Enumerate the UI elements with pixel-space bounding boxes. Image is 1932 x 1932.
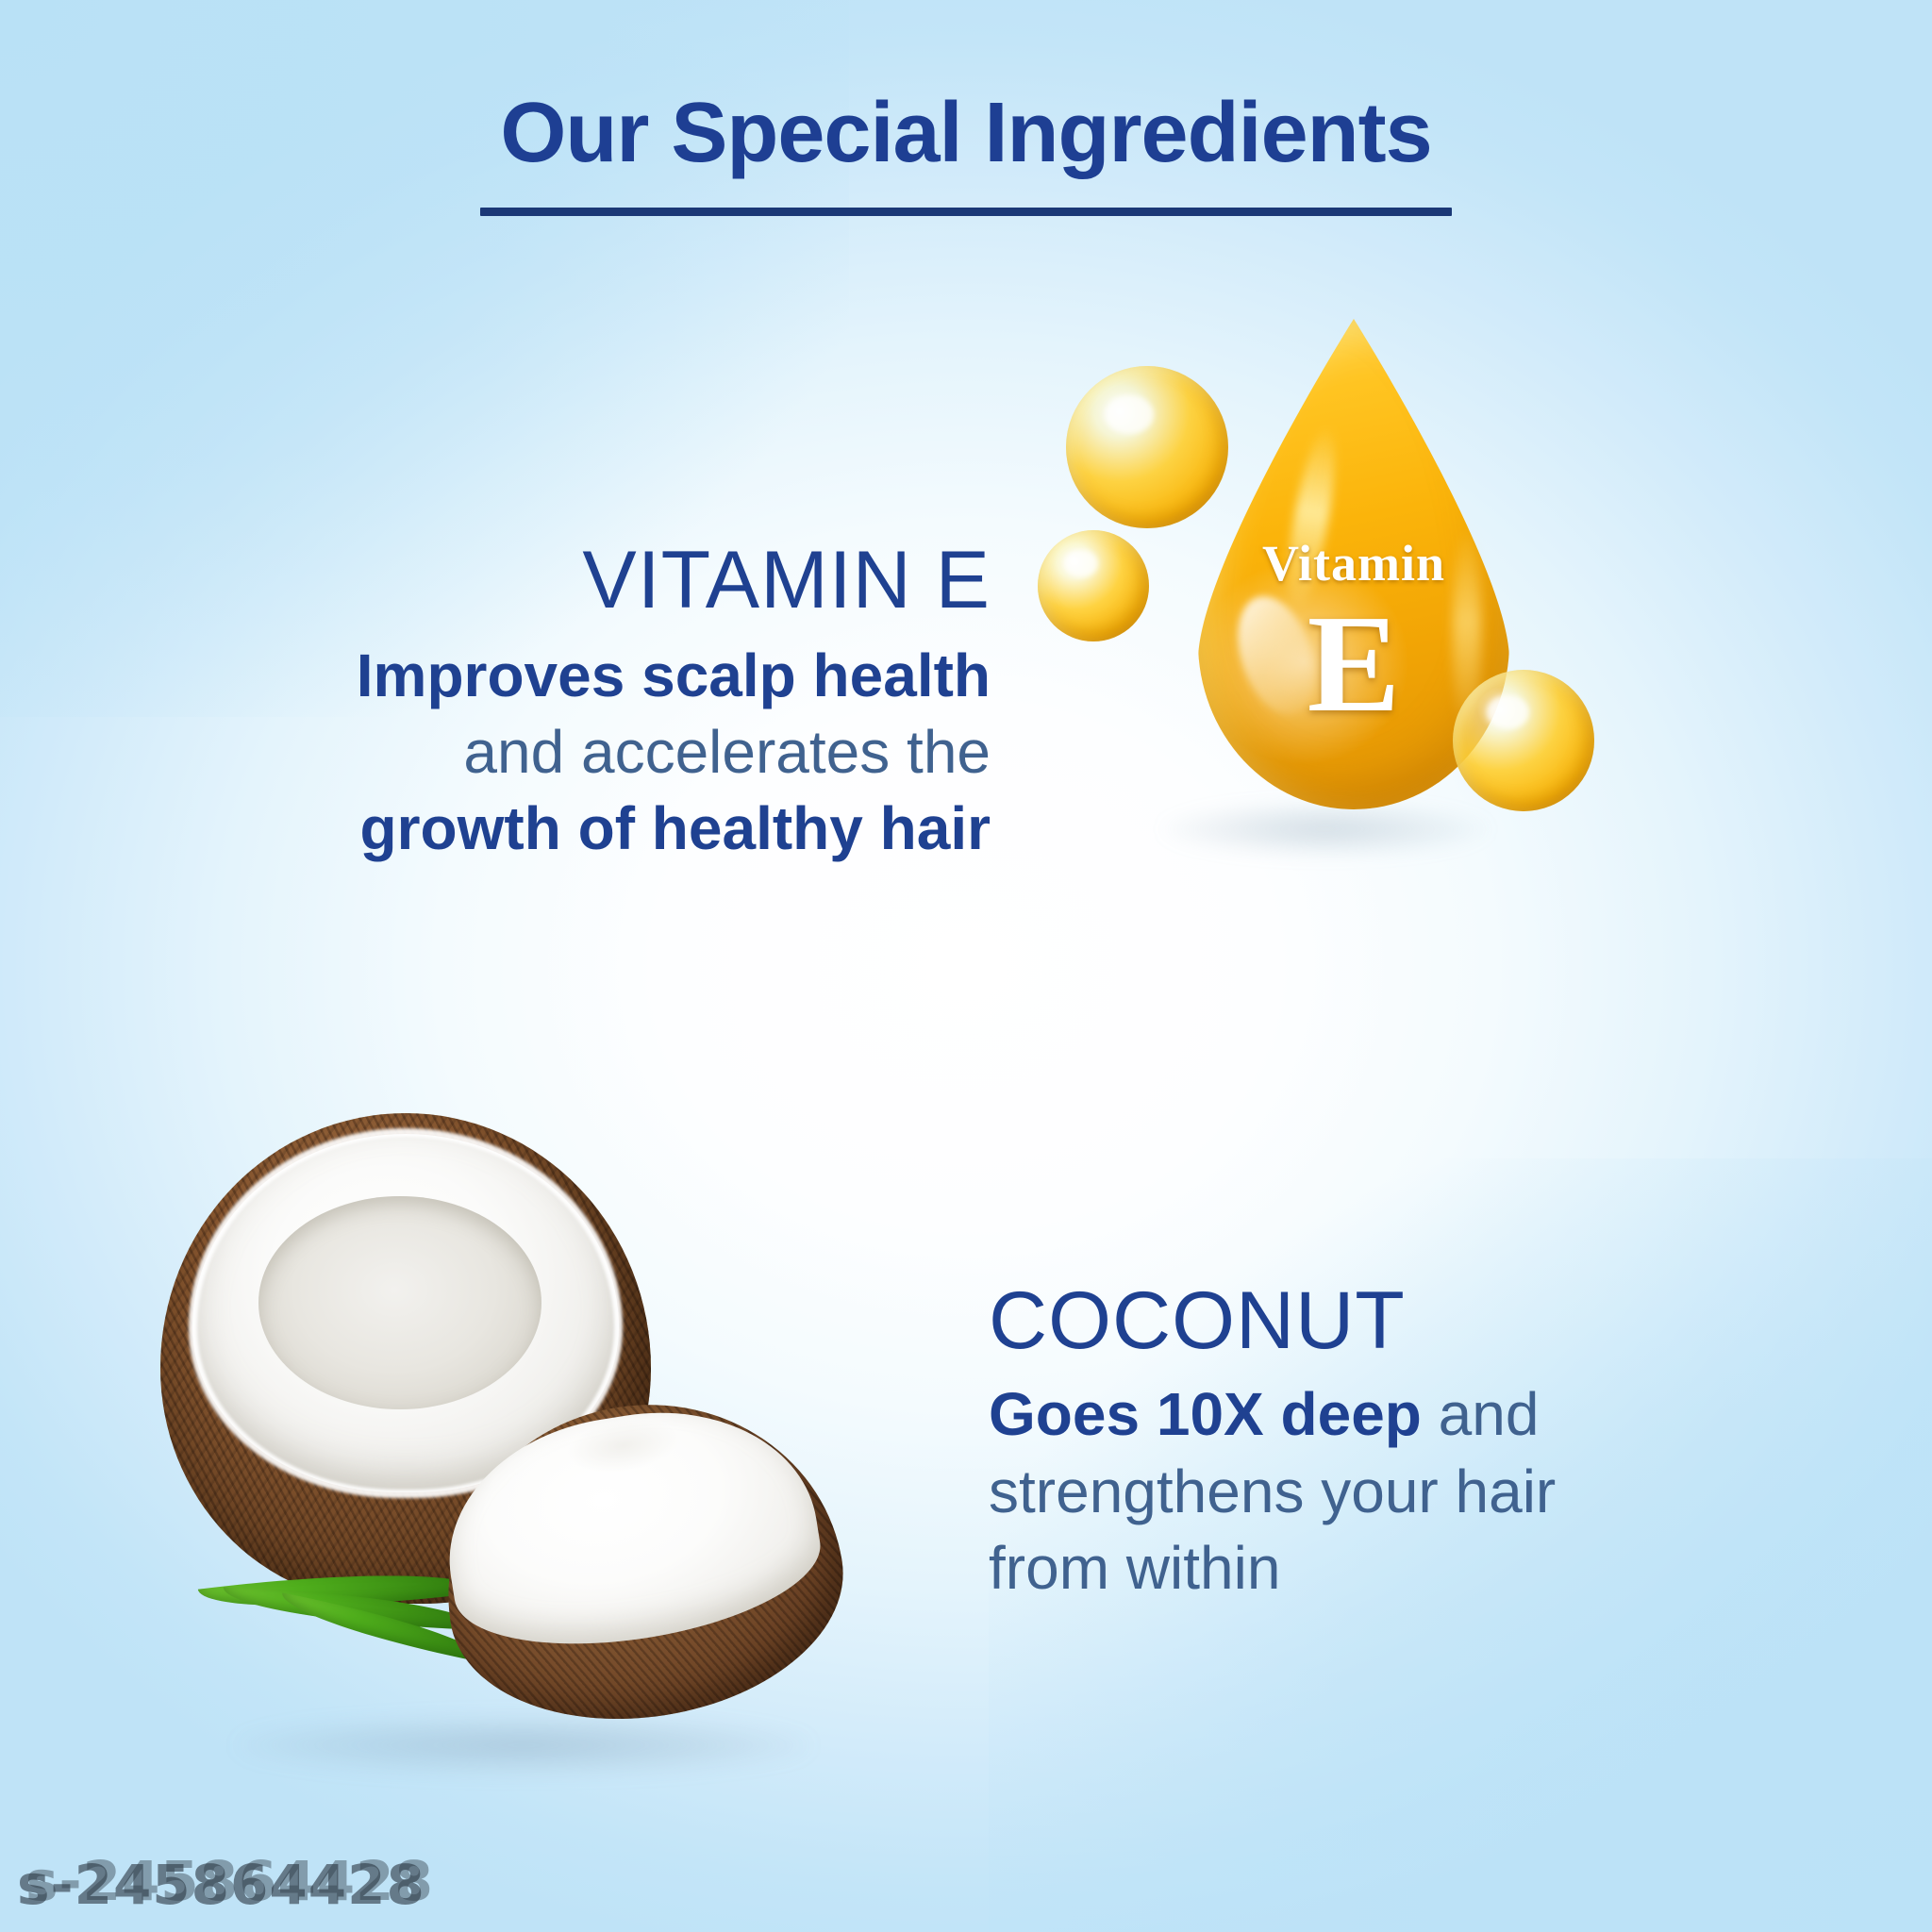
oil-drop-label-letter-e: E: [1198, 594, 1509, 734]
oil-drop-graphic: Vitamin E: [1057, 311, 1641, 877]
title-underline-rule: [480, 208, 1452, 216]
oil-bubble-small-icon: [1038, 530, 1149, 641]
page-title: Our Special Ingredients: [0, 91, 1932, 175]
vitamin-e-heading: VITAMIN E: [236, 538, 991, 623]
vitamin-e-description-line-1: Improves scalp health: [236, 638, 991, 714]
coconut-description-line-2: strengthens your hair: [989, 1454, 1800, 1530]
coconut-description-line-1: Goes 10X deep and: [989, 1376, 1800, 1453]
coconut-description-line-3: from within: [989, 1530, 1800, 1607]
vitamin-e-description-line-3: growth of healthy hair: [236, 791, 991, 867]
oil-drop-label: Vitamin E: [1198, 538, 1509, 734]
watermark-text-ghost: s-245864428: [25, 1849, 434, 1913]
oil-bubble-large-icon: [1066, 366, 1228, 528]
coconut-wedge-icon: [422, 1376, 861, 1746]
coconut-emphasis-goes-10x-deep: Goes 10X deep: [989, 1380, 1422, 1448]
header: Our Special Ingredients: [0, 91, 1932, 216]
vitamin-e-description-line-2: and accelerates the: [236, 714, 991, 791]
coconut-line-1-tail: and: [1422, 1380, 1540, 1448]
ingredient-vitamin-e-text: VITAMIN E Improves scalp health and acce…: [236, 538, 991, 866]
oil-drop-shadow: [1160, 802, 1491, 857]
coconut-heading: COCONUT: [989, 1278, 1800, 1363]
watermark-product-code: s-245864428 s-245864428: [17, 1853, 425, 1917]
ingredient-coconut-text: COCONUT Goes 10X deep and strengthens yo…: [989, 1278, 1800, 1607]
oil-drop-label-vitamin: Vitamin: [1198, 538, 1509, 589]
coconut-graphic: [132, 1113, 962, 1830]
